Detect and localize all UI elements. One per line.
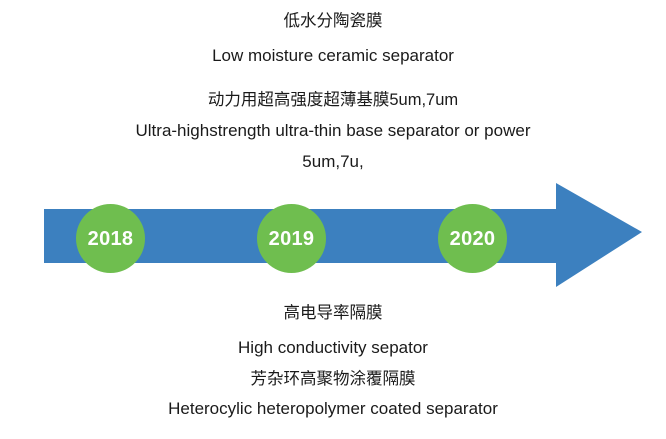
timeline-marker-2018[interactable]: 2018	[76, 204, 145, 273]
top-text-line-1: 低水分陶瓷膜	[0, 11, 666, 31]
timeline-marker-2020[interactable]: 2020	[438, 204, 507, 273]
bottom-text-line-1: 高电导率隔膜	[0, 303, 666, 323]
timeline-marker-label: 2020	[450, 229, 496, 249]
bottom-text-line-4: Heterocylic heteropolymer coated separat…	[0, 399, 666, 419]
timeline-marker-label: 2019	[269, 229, 315, 249]
slide-canvas: 低水分陶瓷膜 Low moisture ceramic separator 动力…	[0, 0, 666, 439]
top-text-line-3: 动力用超高强度超薄基膜5um,7um	[0, 90, 666, 110]
bottom-text-line-2: High conductivity sepator	[0, 338, 666, 358]
timeline-marker-2019[interactable]: 2019	[257, 204, 326, 273]
top-text-line-4: Ultra-highstrength ultra-thin base separ…	[0, 121, 666, 141]
top-text-line-2: Low moisture ceramic separator	[0, 46, 666, 66]
top-text-line-5: 5um,7u,	[0, 152, 666, 172]
timeline-marker-label: 2018	[88, 229, 134, 249]
bottom-text-line-3: 芳杂环高聚物涂覆隔膜	[0, 369, 666, 389]
